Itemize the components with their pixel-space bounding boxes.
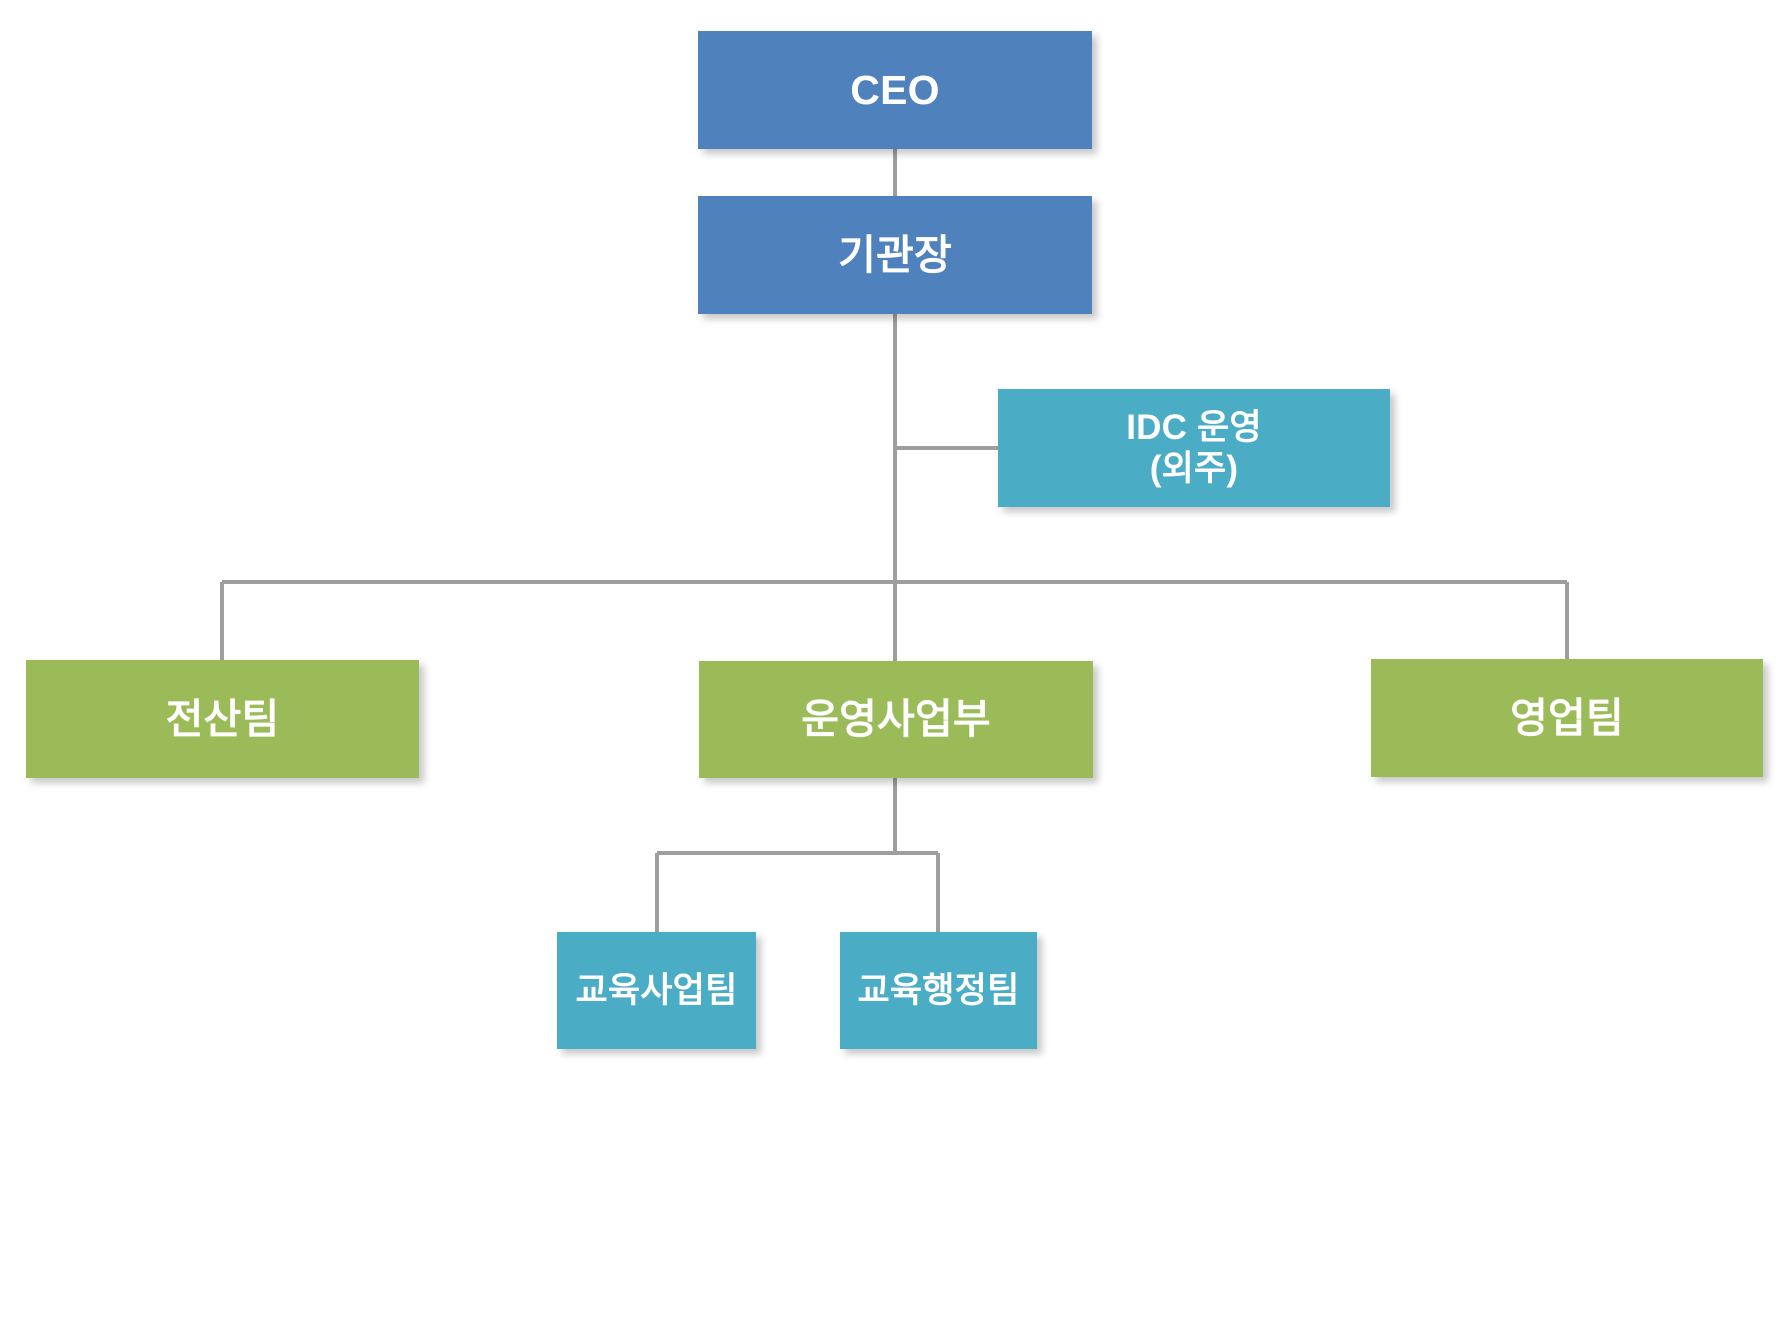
node-ceo[interactable]: CEO xyxy=(698,31,1092,149)
node-education-business-team[interactable]: 교육사업팀 xyxy=(557,932,756,1049)
node-sales-team-label: 영업팀 xyxy=(1371,694,1763,742)
org-chart-canvas: CEO 기관장 IDC 운영 (외주) 전산팀 운영사업부 영업팀 교육사업팀 … xyxy=(0,0,1787,1320)
node-it-team-label: 전산팀 xyxy=(26,695,419,743)
node-operations-division[interactable]: 운영사업부 xyxy=(699,661,1093,778)
node-operations-division-label: 운영사업부 xyxy=(699,695,1093,743)
node-education-admin-team[interactable]: 교육행정팀 xyxy=(840,932,1037,1049)
node-it-team[interactable]: 전산팀 xyxy=(26,660,419,778)
node-education-admin-team-label: 교육행정팀 xyxy=(840,970,1037,1011)
node-ceo-label: CEO xyxy=(698,66,1092,114)
node-idc-operations[interactable]: IDC 운영 (외주) xyxy=(998,389,1390,507)
node-director-label: 기관장 xyxy=(698,231,1092,279)
node-director[interactable]: 기관장 xyxy=(698,196,1092,314)
node-sales-team[interactable]: 영업팀 xyxy=(1371,659,1763,777)
node-idc-operations-label: IDC 운영 (외주) xyxy=(998,407,1390,490)
node-education-business-team-label: 교육사업팀 xyxy=(557,970,756,1011)
